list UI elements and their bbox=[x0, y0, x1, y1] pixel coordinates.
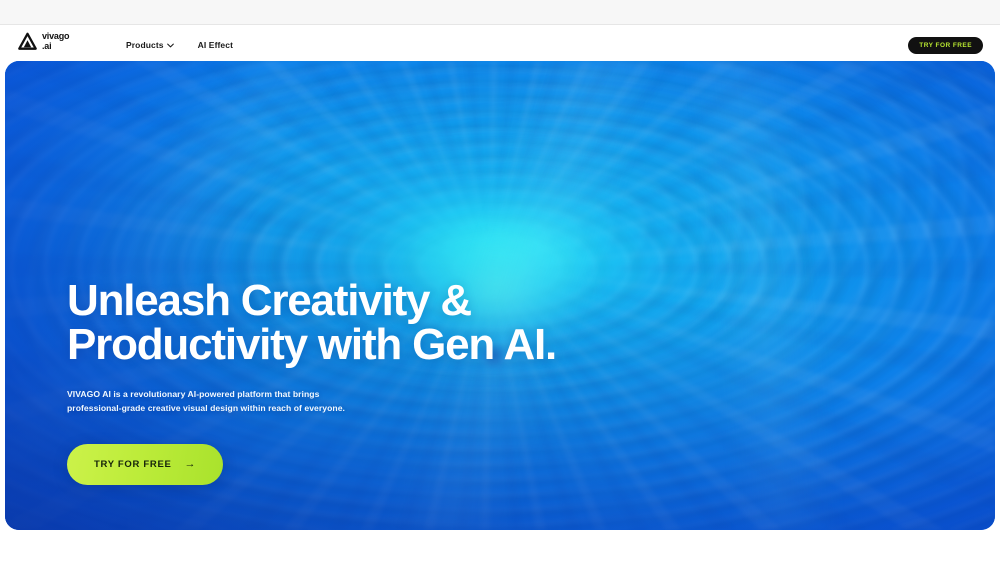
nav-item-products[interactable]: Products bbox=[126, 40, 174, 50]
chevron-down-icon bbox=[167, 43, 174, 48]
hero-try-for-free-button[interactable]: TRY FOR FREE → bbox=[67, 444, 223, 485]
nav-item-products-label: Products bbox=[126, 40, 164, 50]
hero-headline: Unleash Creativity & Productivity with G… bbox=[67, 279, 707, 367]
arrow-right-icon: → bbox=[185, 459, 197, 470]
hero-subheadline: VIVAGO AI is a revolutionary AI-powered … bbox=[67, 388, 707, 416]
hero-banner: Unleash Creativity & Productivity with G… bbox=[5, 61, 995, 530]
brand-logo[interactable]: vivago .ai bbox=[17, 31, 69, 52]
nav-item-ai-effect[interactable]: AI Effect bbox=[198, 40, 233, 50]
brand-name: vivago bbox=[42, 32, 69, 41]
nav-link-group: Products AI Effect bbox=[126, 40, 233, 50]
browser-top-strip bbox=[0, 0, 1000, 25]
hero-cta-label: TRY FOR FREE bbox=[94, 459, 172, 470]
triangle-logo-icon bbox=[17, 31, 38, 52]
brand-suffix: .ai bbox=[42, 42, 69, 51]
nav-item-ai-effect-label: AI Effect bbox=[198, 40, 233, 50]
hero-content: Unleash Creativity & Productivity with G… bbox=[67, 279, 707, 485]
nav-try-for-free-button[interactable]: TRY FOR FREE bbox=[908, 37, 983, 54]
